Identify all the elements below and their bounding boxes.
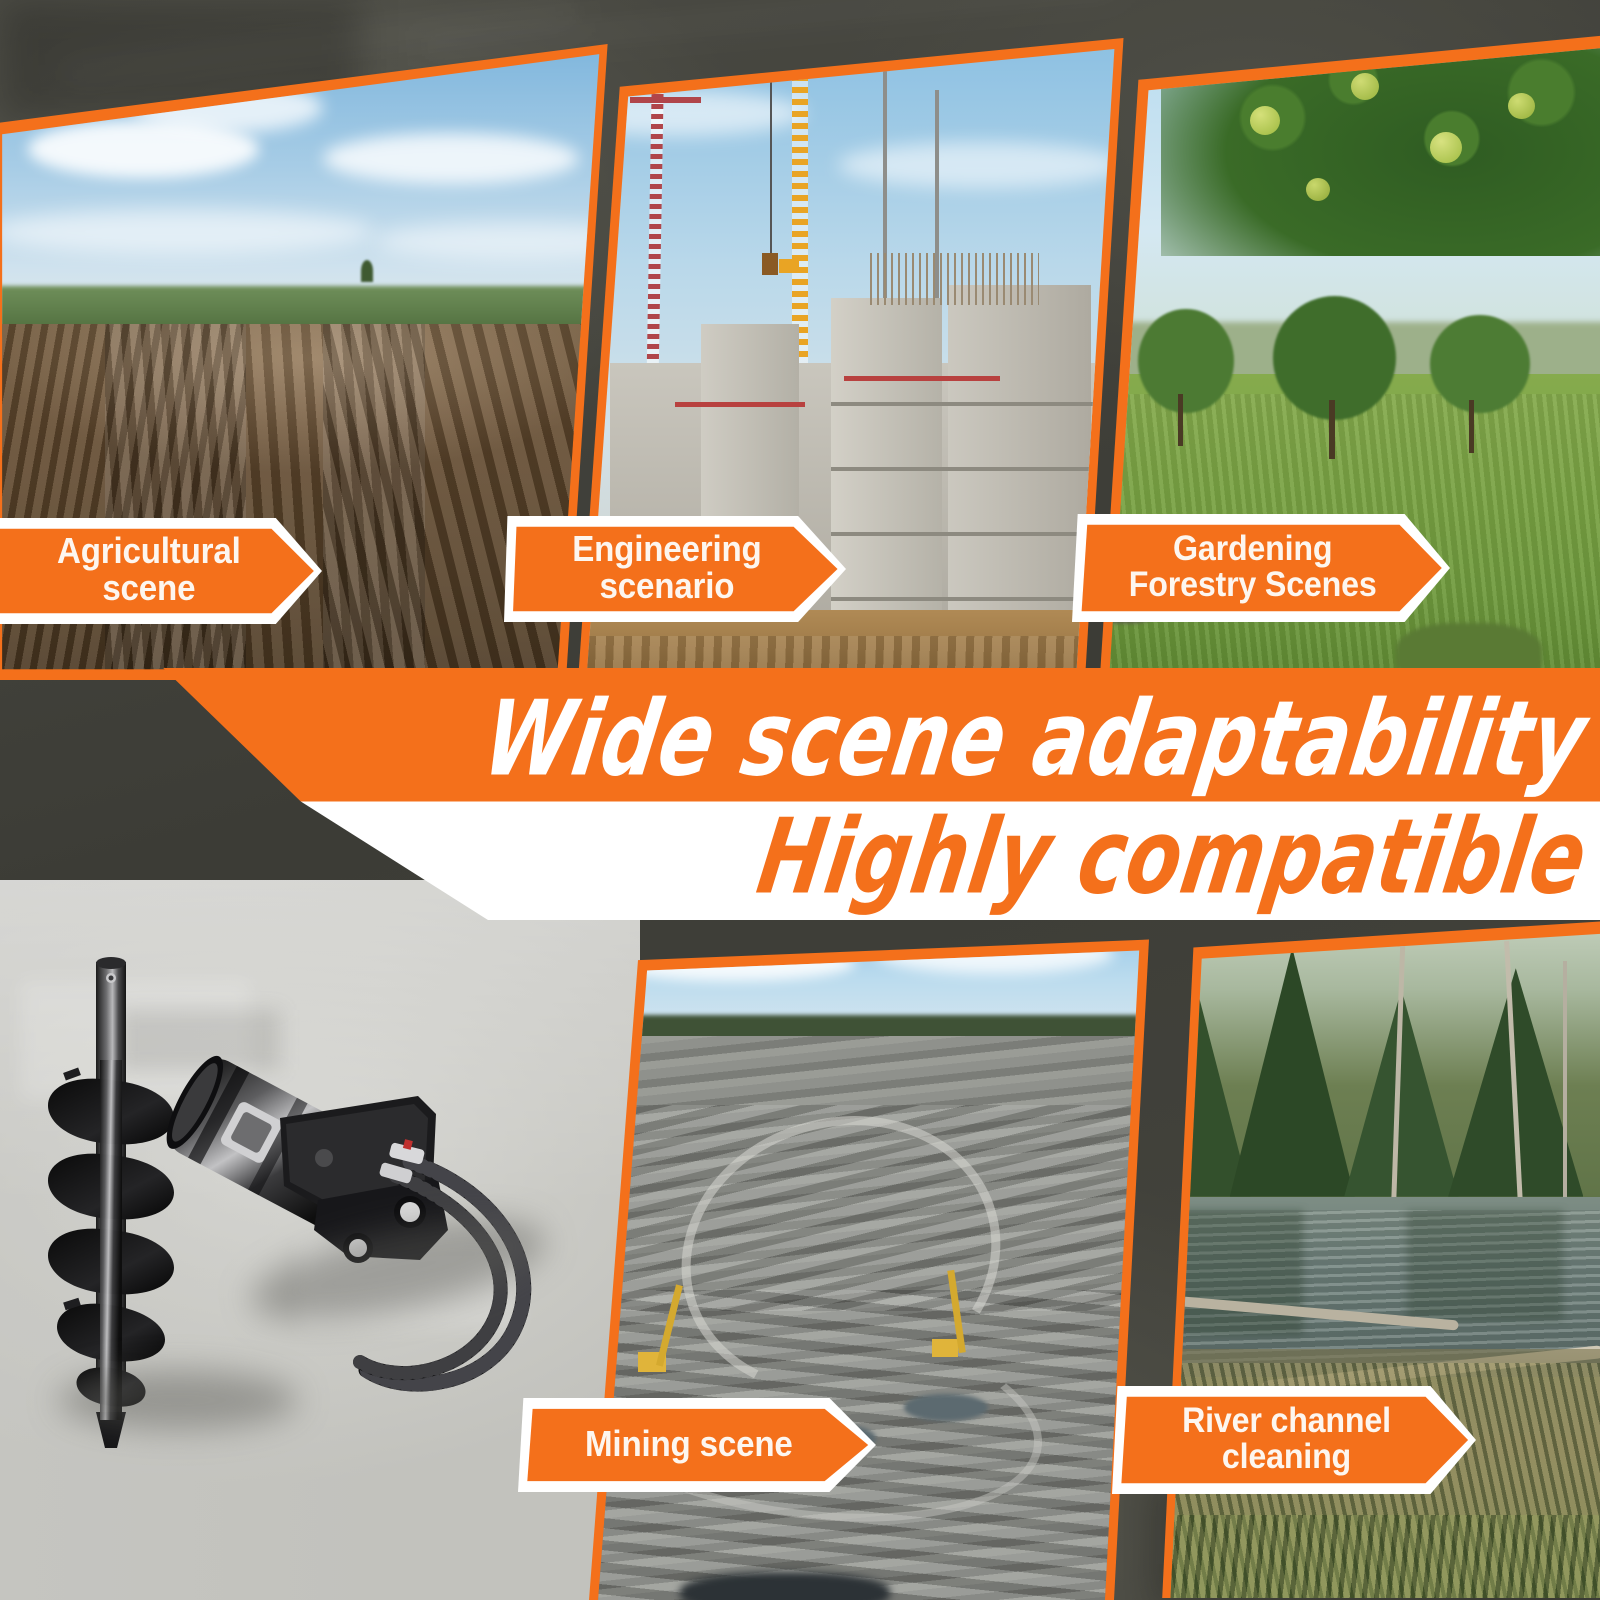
product-shadow xyxy=(58,1370,298,1430)
infographic-canvas: Wide scene adaptability Highly compatibl… xyxy=(0,0,1600,1600)
scene-label-engineering[interactable]: Engineering scenario xyxy=(504,516,846,622)
scene-label-gardening[interactable]: Gardening Forestry Scenes xyxy=(1072,514,1450,622)
scene-label-mining-text: Mining scene xyxy=(585,1426,793,1463)
headline-line1-row: Wide scene adaptability xyxy=(0,674,1600,802)
scene-label-agricultural-text: Agricultural scene xyxy=(57,533,241,606)
scene-label-gardening-fill: Gardening Forestry Scenes xyxy=(1076,520,1450,616)
scene-label-river-text: River channel cleaning xyxy=(1182,1403,1391,1474)
scene-label-mining[interactable]: Mining scene xyxy=(518,1398,876,1492)
scene-label-gardening-text: Gardening Forestry Scenes xyxy=(1129,531,1377,602)
product-image-auger xyxy=(18,900,578,1460)
scene-label-mining-fill: Mining scene xyxy=(522,1404,876,1486)
scene-label-engineering-text: Engineering scenario xyxy=(572,531,761,604)
headline-line1: Wide scene adaptability xyxy=(477,677,1596,799)
scene-label-river[interactable]: River channel cleaning xyxy=(1112,1386,1476,1494)
scene-label-engineering-fill: Engineering scenario xyxy=(508,522,846,616)
scene-label-river-fill: River channel cleaning xyxy=(1116,1392,1476,1488)
headline-banner: Wide scene adaptability Highly compatibl… xyxy=(0,668,1600,920)
headline-line2-row: Highly compatible xyxy=(0,794,1600,918)
scene-label-agricultural-fill: Agricultural scene xyxy=(0,524,322,618)
headline-line2: Highly compatible xyxy=(750,795,1595,917)
scene-label-agricultural[interactable]: Agricultural scene xyxy=(0,518,322,624)
